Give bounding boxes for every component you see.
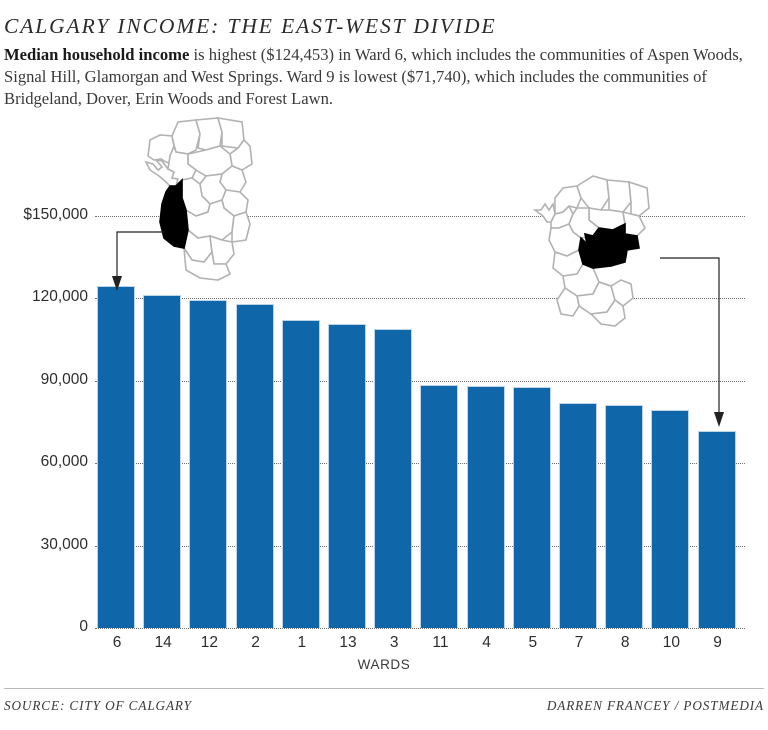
footer-divider	[4, 688, 764, 689]
x-axis-tick-label-1: 1	[279, 634, 325, 652]
bar-ward-12	[189, 300, 227, 628]
gridline	[95, 628, 745, 629]
y-axis-tick-label: 30,000	[2, 536, 88, 554]
x-axis-tick-label-7: 7	[556, 634, 602, 652]
bar-ward-6	[97, 286, 135, 628]
deck-text: Median household income is highest ($124…	[4, 44, 756, 110]
ward-outlines-right	[535, 176, 649, 326]
calgary-wards-map-left	[126, 112, 258, 287]
x-axis-tick-label-6: 6	[94, 634, 140, 652]
y-axis-tick-label: 90,000	[2, 371, 88, 389]
infographic-page: CALGARY INCOME: THE EAST-WEST DIVIDE Med…	[0, 0, 768, 730]
y-axis-tick-label: 120,000	[2, 288, 88, 306]
x-axis-tick-label-9: 9	[695, 634, 741, 652]
bar-ward-9	[698, 431, 736, 628]
x-axis-tick-label-3: 3	[371, 634, 417, 652]
ward-outlines-left	[146, 118, 252, 280]
x-axis-tick-label-11: 11	[417, 634, 463, 652]
bar-ward-10	[651, 410, 689, 628]
x-axis-tick-label-10: 10	[648, 634, 694, 652]
gridline	[95, 546, 745, 547]
bar-ward-8	[605, 405, 643, 628]
ward-map-svg-right	[529, 170, 661, 345]
source-credit: SOURCE: CITY OF CALGARY	[4, 698, 192, 714]
y-axis-tick-label: 60,000	[2, 453, 88, 471]
bar-ward-11	[420, 385, 458, 628]
x-axis-tick-label-13: 13	[325, 634, 371, 652]
bar-ward-2	[236, 304, 274, 628]
deck-lead-in: Median household income	[4, 45, 189, 64]
bar-ward-1	[282, 320, 320, 628]
bar-ward-5	[513, 387, 551, 628]
bar-ward-7	[559, 403, 597, 628]
y-axis-tick-label: 0	[2, 618, 88, 636]
bar-ward-3	[374, 329, 412, 628]
bar-ward-14	[143, 295, 181, 628]
x-axis-tick-label-2: 2	[233, 634, 279, 652]
page-title: CALGARY INCOME: THE EAST-WEST DIVIDE	[4, 14, 744, 39]
x-axis-tick-label-12: 12	[186, 634, 232, 652]
x-axis-tick-label-5: 5	[510, 634, 556, 652]
bar-ward-13	[328, 324, 366, 628]
calgary-wards-map-right	[529, 170, 661, 345]
y-axis-tick-label: $150,000	[2, 206, 88, 224]
x-axis-tick-label-4: 4	[464, 634, 510, 652]
gridline	[95, 381, 745, 382]
x-axis-tick-label-14: 14	[140, 634, 186, 652]
gridline	[95, 463, 745, 464]
bar-ward-4	[467, 386, 505, 628]
author-credit: DARREN FRANCEY / POSTMEDIA	[547, 698, 764, 714]
x-axis-title: WARDS	[0, 657, 768, 672]
x-axis-tick-label-8: 8	[602, 634, 648, 652]
ward-map-svg-left	[126, 112, 258, 287]
